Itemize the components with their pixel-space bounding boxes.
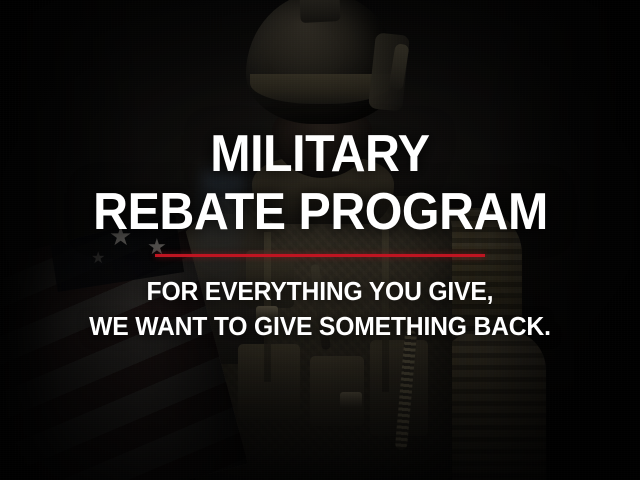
text-overlay: MILITARY REBATE PROGRAM FOR EVERYTHING Y… [0,0,640,480]
headline-line-2: REBATE PROGRAM [93,186,548,238]
subheadline: FOR EVERYTHING YOU GIVE, WE WANT TO GIVE… [89,274,551,343]
headline-line-1: MILITARY [210,128,429,180]
military-rebate-program-banner: MILITARY REBATE PROGRAM FOR EVERYTHING Y… [0,0,640,480]
subheadline-line-1: FOR EVERYTHING YOU GIVE, [89,274,551,309]
subheadline-line-2: WE WANT TO GIVE SOMETHING BACK. [89,309,551,344]
red-divider-rule [155,254,485,257]
